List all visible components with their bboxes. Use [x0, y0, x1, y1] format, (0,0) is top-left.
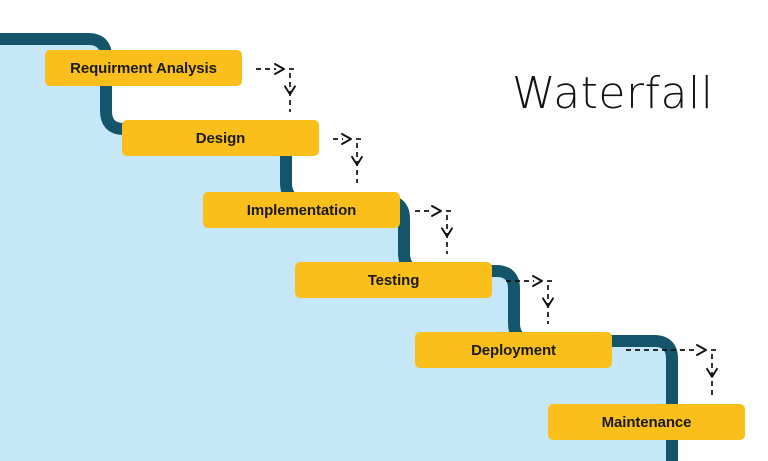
- waterfall-diagram-canvas: Requirment AnalysisDesignImplementationT…: [0, 0, 768, 461]
- phase-box-deployment[interactable]: Deployment: [415, 332, 612, 368]
- diagram-title: Waterfall: [512, 68, 713, 119]
- phase-label: Requirment Analysis: [70, 60, 217, 77]
- phase-label: Implementation: [247, 202, 356, 219]
- phase-box-testing[interactable]: Testing: [295, 262, 492, 298]
- phase-label: Maintenance: [602, 414, 692, 431]
- phase-box-design[interactable]: Design: [122, 120, 319, 156]
- phase-box-requirement-analysis[interactable]: Requirment Analysis: [45, 50, 242, 86]
- phase-box-maintenance[interactable]: Maintenance: [548, 404, 745, 440]
- phase-label: Deployment: [471, 342, 556, 359]
- phase-box-implementation[interactable]: Implementation: [203, 192, 400, 228]
- phase-label: Design: [196, 130, 245, 147]
- phase-label: Testing: [368, 272, 420, 289]
